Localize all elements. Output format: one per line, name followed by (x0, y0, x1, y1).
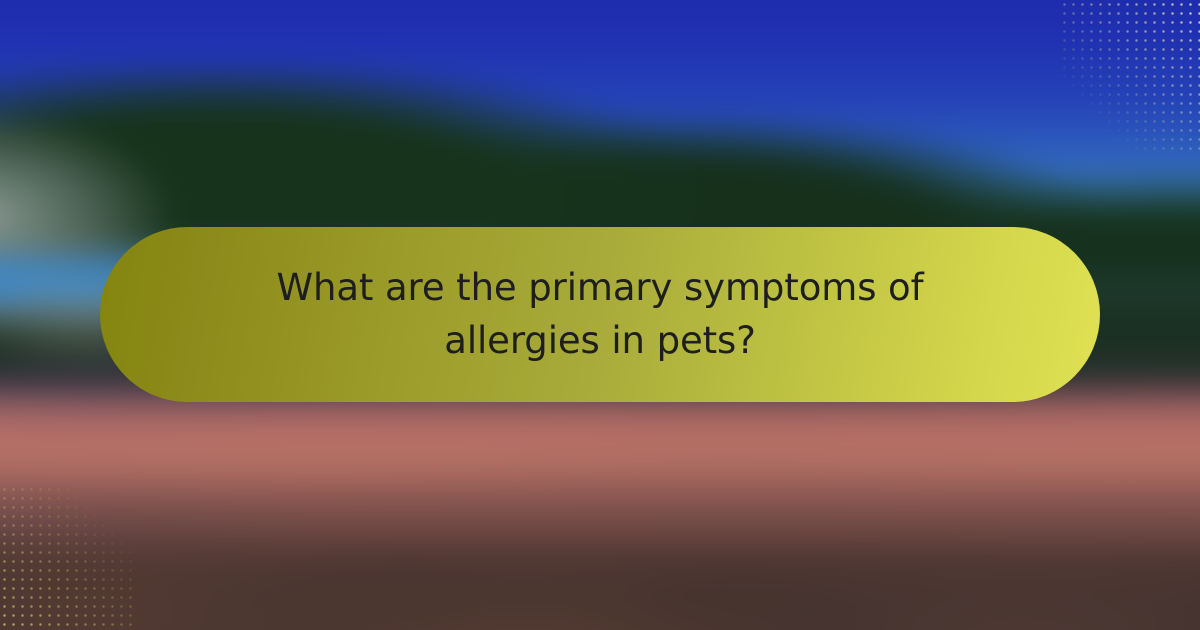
question-text: What are the primary symptoms of allergi… (220, 262, 980, 367)
question-card[interactable]: What are the primary symptoms of allergi… (100, 227, 1100, 402)
slide-canvas: What are the primary symptoms of allergi… (0, 0, 1200, 630)
water-highlight-layer (0, 258, 75, 315)
foreground-ground-layer (0, 414, 1200, 630)
